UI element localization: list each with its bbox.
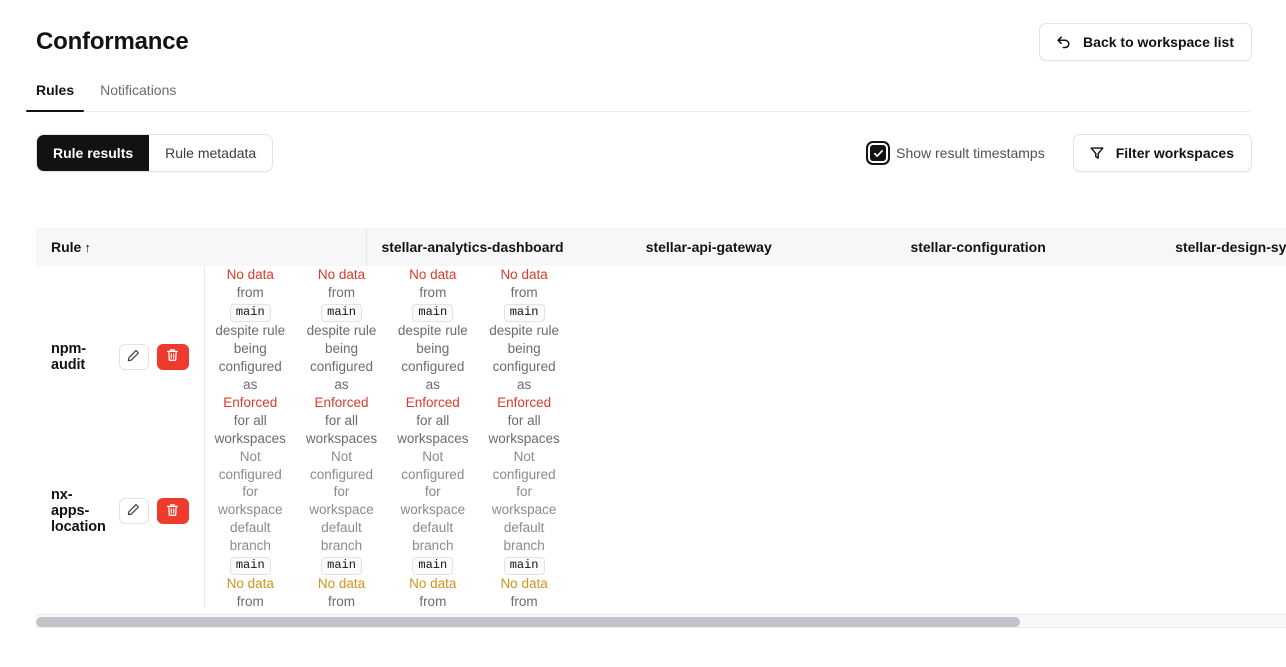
result-cell: No data from main despite rule being con…	[296, 266, 387, 448]
result-cell: Not configured for workspace default bra…	[478, 448, 569, 576]
cell-status-lead: No data	[409, 576, 456, 591]
pencil-icon	[127, 503, 140, 519]
edit-rule-button[interactable]	[119, 344, 149, 370]
rule-name-label: nx-apps-location	[51, 487, 107, 535]
cell-status-lead: No data	[318, 267, 365, 282]
cell-message: No data from main despite rule being con…	[397, 266, 468, 448]
column-header-rule-label: Rule	[51, 239, 81, 255]
branch-badge: main	[321, 557, 362, 575]
delete-rule-button[interactable]	[157, 344, 189, 370]
table-row: use-prettierNo data from main despite ru…	[36, 575, 570, 608]
tab-bar: Rules Notifications	[36, 79, 1250, 112]
branch-badge: main	[504, 304, 545, 322]
cell-message: Not configured for workspace default bra…	[306, 448, 377, 576]
filter-button-label: Filter workspaces	[1116, 145, 1234, 161]
result-cell: Not configured for workspace default bra…	[204, 448, 296, 576]
cell-severity: Enforced	[497, 395, 551, 410]
cell-severity: Enforced	[315, 395, 369, 410]
table-row: nx-apps-locationNot configured for works…	[36, 448, 570, 576]
cell-message: No data from main despite rule being con…	[306, 266, 377, 448]
column-header-workspace-2[interactable]: stellar-configuration	[896, 228, 1161, 266]
result-cell: Not configured for workspace default bra…	[296, 448, 387, 576]
cell-message: No data from main despite rule being con…	[215, 575, 286, 608]
table-header-row: Rule↑ stellar-analytics-dashboard stella…	[36, 228, 1286, 266]
column-header-workspace-1[interactable]: stellar-api-gateway	[632, 228, 897, 266]
page-title: Conformance	[36, 28, 189, 56]
checkbox-label: Show result timestamps	[896, 145, 1045, 161]
cell-status-lead: No data	[227, 576, 274, 591]
filter-workspaces-button[interactable]: Filter workspaces	[1073, 134, 1252, 172]
result-cell: No data from main despite rule being con…	[387, 266, 478, 448]
branch-badge: main	[504, 557, 545, 575]
cell-message: No data from main despite rule being con…	[306, 575, 377, 608]
cell-message: Not configured for workspace default bra…	[215, 448, 286, 576]
rule-actions	[119, 498, 189, 524]
segment-rule-results[interactable]: Rule results	[37, 135, 149, 171]
cell-severity: Enforced	[223, 395, 277, 410]
result-cell: No data from main despite rule being con…	[478, 266, 569, 448]
cell-message: Not configured for workspace default bra…	[488, 448, 559, 576]
result-cell: No data from main despite rule being con…	[204, 266, 296, 448]
branch-badge: main	[321, 304, 362, 322]
result-cell: No data from main despite rule being con…	[296, 575, 387, 608]
branch-badge: main	[412, 304, 453, 322]
page-header: Conformance Back to workspace list	[0, 0, 1286, 62]
rule-name-cell: npm-audit	[36, 266, 204, 448]
rules-table-scroll-region[interactable]: Rule↑ stellar-analytics-dashboard stella…	[36, 228, 1286, 608]
result-cell: No data from main despite rule being con…	[478, 575, 569, 608]
cell-status-lead: No data	[318, 576, 365, 591]
result-cell: No data from main despite rule being con…	[387, 575, 478, 608]
undo-arrow-icon	[1055, 34, 1072, 51]
show-result-timestamps-checkbox[interactable]: Show result timestamps	[870, 145, 1045, 161]
result-cell: No data from main despite rule being con…	[204, 575, 296, 608]
view-mode-segmented-control: Rule results Rule metadata	[36, 134, 273, 172]
rules-table: Rule↑ stellar-analytics-dashboard stella…	[36, 228, 1286, 608]
column-header-workspace-3[interactable]: stellar-design-system	[1161, 228, 1286, 266]
back-to-workspace-list-button[interactable]: Back to workspace list	[1039, 23, 1252, 61]
conformance-page: Conformance Back to workspace list Rules…	[0, 0, 1286, 667]
column-header-rule[interactable]: Rule↑	[36, 228, 367, 266]
rule-name-cell: nx-apps-location	[36, 448, 204, 576]
horizontal-scrollbar-thumb[interactable]	[36, 617, 1020, 627]
rule-name-cell: use-prettier	[36, 575, 204, 608]
trash-icon	[166, 348, 179, 365]
cell-message: No data from main despite rule being con…	[397, 575, 468, 608]
result-cell: Not configured for workspace default bra…	[387, 448, 478, 576]
branch-badge: main	[230, 557, 271, 575]
branch-badge: main	[412, 557, 453, 575]
rule-name-label: npm-audit	[51, 341, 107, 373]
trash-icon	[166, 503, 179, 520]
rule-actions	[119, 344, 189, 370]
cell-message: No data from main despite rule being con…	[488, 266, 559, 448]
edit-rule-button[interactable]	[119, 498, 149, 524]
delete-rule-button[interactable]	[157, 498, 189, 524]
tab-notifications[interactable]: Notifications	[90, 79, 186, 111]
column-header-workspace-0[interactable]: stellar-analytics-dashboard	[367, 228, 632, 266]
checkbox-checked-icon	[870, 145, 886, 161]
toolbar: Rule results Rule metadata Show result t…	[36, 134, 1252, 172]
cell-message: No data from main despite rule being con…	[215, 266, 286, 448]
cell-message: No data from main despite rule being con…	[488, 575, 559, 608]
pencil-icon	[127, 349, 140, 365]
cell-status-lead: No data	[500, 267, 547, 282]
cell-status-lead: No data	[409, 267, 456, 282]
sort-ascending-icon: ↑	[84, 240, 91, 255]
branch-badge: main	[230, 304, 271, 322]
horizontal-scrollbar-track[interactable]	[36, 614, 1286, 628]
toolbar-right-group: Show result timestamps Filter workspaces	[870, 134, 1252, 172]
funnel-icon	[1089, 145, 1105, 161]
table-row: npm-auditNo data from main despite rule …	[36, 266, 570, 448]
cell-message: Not configured for workspace default bra…	[397, 448, 468, 576]
cell-status-lead: No data	[227, 267, 274, 282]
tab-rules[interactable]: Rules	[26, 79, 84, 111]
cell-status-lead: No data	[500, 576, 547, 591]
back-button-label: Back to workspace list	[1083, 34, 1234, 50]
segment-rule-metadata[interactable]: Rule metadata	[149, 135, 272, 171]
cell-severity: Enforced	[406, 395, 460, 410]
